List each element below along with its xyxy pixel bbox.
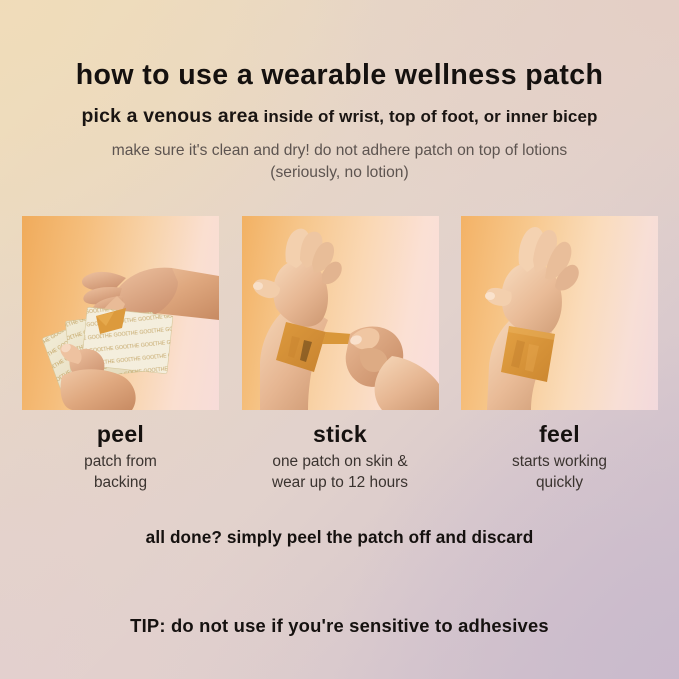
caption-sub-peel-line2: backing [22, 473, 219, 493]
caption-sub-stick-line2: wear up to 12 hours [242, 473, 439, 493]
caption-sub-stick: one patch on skin & wear up to 12 hours [242, 452, 439, 493]
applied-patch [501, 326, 555, 382]
right-forearm [374, 356, 438, 410]
lower-forearm [61, 369, 136, 410]
lotion-note: make sure it's clean and dry! do not adh… [0, 140, 679, 184]
caption-title-stick: stick [242, 421, 439, 448]
caption-sub-feel-line2: quickly [461, 473, 658, 493]
caption-sub-feel-line1: starts working [461, 452, 658, 472]
caption-peel: peel patch from backing [22, 421, 219, 493]
stick-illustration [242, 216, 439, 410]
subheading-lead: pick a venous area [81, 105, 258, 127]
feel-illustration [461, 216, 658, 410]
tip-text: TIP: do not use if you're sensitive to a… [0, 615, 679, 637]
step-caption-row: peel patch from backing stick one patch … [22, 421, 658, 493]
page-title: how to use a wearable wellness patch [0, 59, 679, 92]
step-image-feel [461, 216, 658, 410]
step-image-stick [242, 216, 439, 410]
step-image-row: THE GOOD [22, 216, 658, 410]
left-thumbnail [253, 282, 263, 290]
caption-title-feel: feel [461, 421, 658, 448]
lotion-note-line2: (seriously, no lotion) [0, 162, 679, 184]
subheading-rest: inside of wrist, top of foot, or inner b… [264, 107, 598, 126]
lotion-note-line1: make sure it's clean and dry! do not adh… [0, 140, 679, 162]
caption-title-peel: peel [22, 421, 219, 448]
all-done-text: all done? simply peel the patch off and … [0, 527, 679, 548]
step-image-peel: THE GOOD [22, 216, 219, 410]
thumbnail [485, 292, 495, 300]
caption-sub-peel-line1: patch from [22, 452, 219, 472]
patch-tail [322, 332, 352, 344]
caption-sub-peel: patch from backing [22, 452, 219, 493]
subheading: pick a venous area inside of wrist, top … [0, 105, 679, 128]
caption-feel: feel starts working quickly [461, 421, 658, 493]
caption-sub-feel: starts working quickly [461, 452, 658, 493]
caption-sub-stick-line1: one patch on skin & [242, 452, 439, 472]
peel-illustration: THE GOOD [22, 216, 219, 410]
caption-stick: stick one patch on skin & wear up to 12 … [242, 421, 439, 493]
infographic-root: how to use a wearable wellness patch pic… [0, 0, 679, 679]
